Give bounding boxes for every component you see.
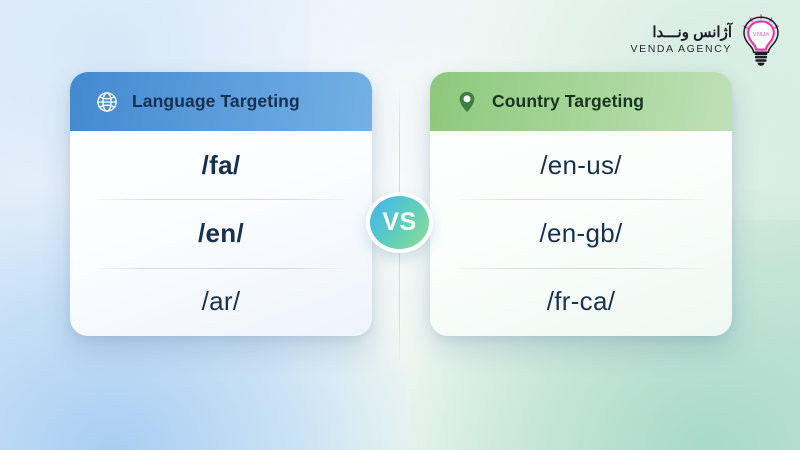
brand-logo: آژانس ونـــدا VENDA AGENCY VNDA (631, 14, 784, 66)
vs-badge: VS (366, 192, 433, 253)
card-language-targeting[interactable]: Language Targeting /fa/ /en/ /ar/ (70, 72, 372, 336)
card-country-body: /en-us/ /en-gb/ /fr-ca/ (430, 131, 732, 336)
list-item[interactable]: /en-us/ (456, 131, 706, 199)
brand-name-english: VENDA AGENCY (631, 44, 732, 55)
brand-name-persian: آژانس ونـــدا (652, 25, 732, 40)
lightbulb-icon: VNDA (738, 14, 784, 66)
vs-label: VS (382, 210, 416, 235)
slug-value: /en/ (198, 218, 244, 249)
slug-value: /fr-ca/ (547, 286, 616, 317)
slug-value: /fa/ (202, 150, 241, 181)
svg-text:VNDA: VNDA (753, 32, 770, 38)
list-item[interactable]: /fa/ (96, 131, 346, 199)
list-item[interactable]: /en/ (96, 199, 346, 267)
slug-value: /en-us/ (540, 150, 622, 181)
slide-canvas: آژانس ونـــدا VENDA AGENCY VNDA (0, 0, 800, 450)
card-country-header: Country Targeting (430, 72, 732, 131)
globe-icon (95, 90, 119, 114)
card-country-targeting[interactable]: Country Targeting /en-us/ /en-gb/ /fr-ca… (430, 72, 732, 336)
card-country-title: Country Targeting (492, 91, 644, 112)
card-language-title: Language Targeting (132, 91, 300, 112)
list-item[interactable]: /en-gb/ (456, 199, 706, 267)
slug-value: /ar/ (202, 286, 241, 317)
brand-logo-text: آژانس ونـــدا VENDA AGENCY (631, 25, 732, 55)
map-pin-icon (455, 90, 479, 114)
card-language-body: /fa/ /en/ /ar/ (70, 131, 372, 336)
card-language-header: Language Targeting (70, 72, 372, 131)
slug-value: /en-gb/ (539, 218, 622, 249)
list-item[interactable]: /ar/ (96, 268, 346, 336)
list-item[interactable]: /fr-ca/ (456, 268, 706, 336)
